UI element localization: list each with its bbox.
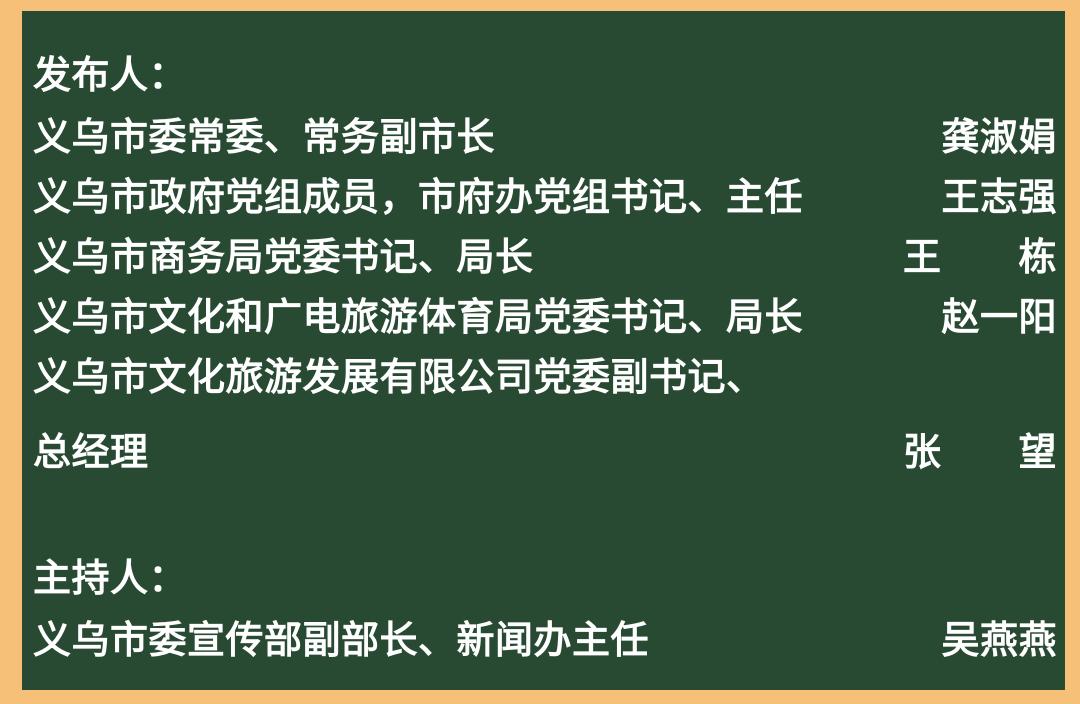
- publisher-name: 张 望: [903, 434, 1057, 472]
- publisher-title: 义乌市文化和广电旅游体育局党委书记、局长: [33, 299, 803, 337]
- publisher-row: 义乌市政府党组成员，市府办党组书记、主任 王志强: [33, 179, 1057, 225]
- green-panel: 发布人： 义乌市委常委、常务副市长 龚淑娟 义乌市政府党组成员，市府办党组书记、…: [22, 11, 1065, 690]
- publisher-title: 义乌市商务局党委书记、局长: [33, 239, 534, 277]
- publisher-name: 龚淑娟: [941, 119, 1057, 157]
- publisher-title: 义乌市政府党组成员，市府办党组书记、主任: [33, 179, 803, 217]
- publisher-row: 义乌市商务局党委书记、局长 王 栋: [33, 239, 1057, 285]
- publisher-title: 义乌市文化旅游发展有限公司党委副书记、: [33, 359, 765, 397]
- host-row: 义乌市委宣传部副部长、新闻办主任 吴燕燕: [33, 622, 1057, 668]
- publisher-row: 义乌市文化旅游发展有限公司党委副书记、: [33, 359, 1057, 405]
- poster-frame: 发布人： 义乌市委常委、常务副市长 龚淑娟 义乌市政府党组成员，市府办党组书记、…: [0, 0, 1080, 704]
- publisher-name: 王志强: [941, 179, 1057, 217]
- publisher-name: 王 栋: [903, 239, 1057, 277]
- publishers-section-label: 发布人：: [33, 57, 187, 95]
- host-name: 吴燕燕: [941, 622, 1057, 660]
- publisher-name: 赵一阳: [941, 299, 1057, 337]
- publisher-title: 义乌市委常委、常务副市长: [33, 119, 495, 157]
- publisher-title: 总经理: [33, 434, 149, 472]
- publisher-row: 义乌市委常委、常务副市长 龚淑娟: [33, 119, 1057, 165]
- host-title: 义乌市委宣传部副部长、新闻办主任: [33, 622, 649, 660]
- publisher-row: 义乌市文化和广电旅游体育局党委书记、局长 赵一阳: [33, 299, 1057, 345]
- host-section-label: 主持人：: [33, 560, 187, 598]
- publisher-row: 总经理 张 望: [33, 434, 1057, 480]
